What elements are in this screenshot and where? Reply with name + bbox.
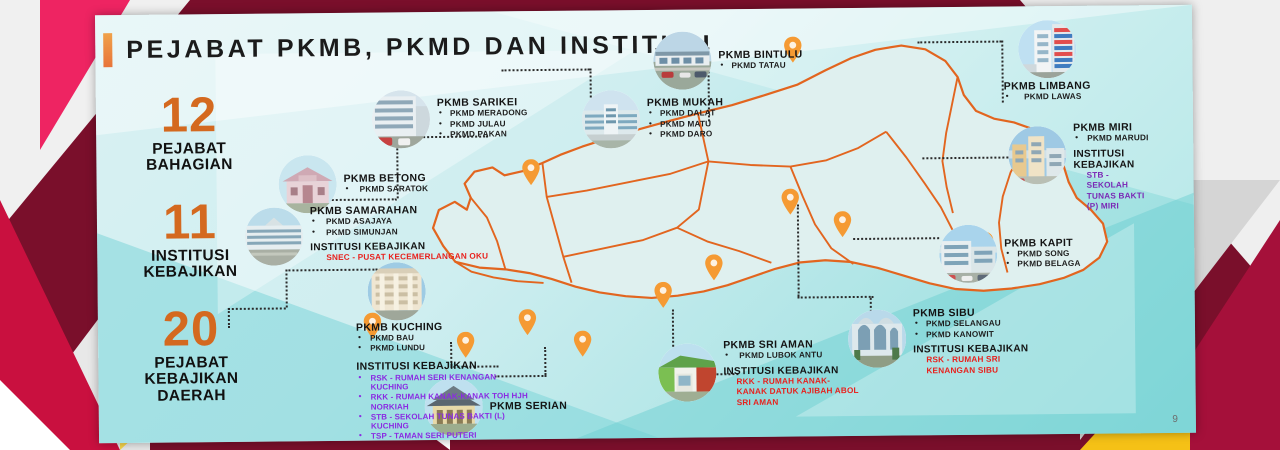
high-rise-building-photo <box>1018 20 1077 79</box>
map-pin[interactable] <box>781 189 800 215</box>
office-text: PKMB BETONG PKMD SARATOK <box>343 172 428 195</box>
institution-item: RSK - RUMAH SERI KENANGAN KUCHING <box>356 372 531 393</box>
office-sublist: PKMD SONG PKMD BELAGA <box>1004 248 1080 270</box>
sarikei-shoplot-photo <box>372 90 431 149</box>
leader-line <box>285 269 287 307</box>
airport-terminal-photo <box>653 31 712 90</box>
office-title: PKMB SARIKEI <box>437 96 528 109</box>
institution-item: STB - SEKOLAH TUNAS BAKTI (P) MIRI <box>1074 170 1149 213</box>
office-sublist: PKMD LUBOK ANTU <box>723 350 860 362</box>
stat-pejabat-kebajikan-daerah: 20 PEJABAT KEBAJIKAN DAERAH <box>106 306 277 406</box>
office-sublist: PKMD LAWAS <box>1004 92 1091 103</box>
stat-pejabat-bahagian: 12 PEJABAT BAHAGIAN <box>104 92 275 175</box>
office-text: PKMB BINTULU PKMD TATAU <box>718 48 802 71</box>
office-card-kuching[interactable]: PKMB KUCHING PKMD BAU PKMD LUNDU INSTITU… <box>356 320 532 443</box>
office-text: PKMB LIMBANG PKMD LAWAS <box>1004 80 1091 103</box>
office-title: PKMB MUKAH <box>647 96 724 109</box>
samarahan-office-photo <box>245 207 304 266</box>
map-pin[interactable] <box>521 159 540 185</box>
office-card-samarahan[interactable]: PKMB SAMARAHAN PKMD ASAJAYA PKMD SIMUNJA… <box>245 204 488 266</box>
office-card-miri[interactable]: PKMB MIRI PKMD MARUDI INSTITUSI KEBAJIKA… <box>1008 121 1149 213</box>
office-sublist: PKMD TATAU <box>718 60 802 71</box>
office-text: PKMB MUKAH PKMD DALAT PKMD MATU PKMD DAR… <box>647 96 724 140</box>
institution-heading: INSTITUSI KEBAJIKAN <box>356 359 531 373</box>
office-text: PKMB SIBU PKMD SELANGAU PKMD KANOWIT INS… <box>913 306 1029 376</box>
institution-item: STB - SEKOLAH TUNAS BAKTI (L) KUCHING <box>357 411 532 432</box>
mukah-complex-photo <box>582 90 641 149</box>
office-sublist: PKMD MARUDI <box>1073 133 1148 144</box>
office-sublist: PKMD ASAJAYA PKMD SIMUNJAN <box>310 216 488 239</box>
office-sublist: PKMD MERADONG PKMD JULAU PKMD PAKAN <box>437 108 528 140</box>
map-pin[interactable] <box>573 331 592 357</box>
institution-item: RKK - RUMAH KANAK-KANAK DATUK AJIBAH ABO… <box>723 375 860 408</box>
stat-label: PEJABAT BAHAGIAN <box>104 140 274 175</box>
office-title: PKMB KAPIT <box>1004 236 1080 249</box>
office-text: PKMB SARIKEI PKMD MERADONG PKMD JULAU PK… <box>437 96 528 140</box>
office-card-sriaman[interactable]: PKMB SRI AMAN PKMD LUBOK ANTU INSTITUSI … <box>658 338 861 409</box>
presentation-slide: PEJABAT PKMB, PKMD DAN INSTITUSI 12 PEJA… <box>95 5 1196 444</box>
institution-item: RKK - RUMAH KANAK-KANAK TOH HJH NORKIAH <box>357 391 532 412</box>
office-text: PKMB MIRI PKMD MARUDI INSTITUSI KEBAJIKA… <box>1073 121 1149 212</box>
office-card-limbang[interactable]: PKMB LIMBANG PKMD LAWAS <box>1003 20 1091 103</box>
miri-city-building-photo <box>1008 126 1067 185</box>
page-number: 9 <box>1172 414 1178 425</box>
office-card-bintulu[interactable]: PKMB BINTULU PKMD TATAU <box>653 30 803 89</box>
office-title: PKMB MIRI <box>1073 121 1148 134</box>
institution-list: RSK - RUMAH SERI KENANGAN KUCHING RKK - … <box>356 372 532 444</box>
office-sublist: PKMD BAU PKMD LUNDU <box>356 332 531 353</box>
title-accent-bar <box>103 33 112 67</box>
office-text: PKMB KAPIT PKMD SONG PKMD BELAGA <box>1004 236 1080 270</box>
leader-line <box>228 308 230 328</box>
office-sublist: PKMD DALAT PKMD MATU PKMD DARO <box>647 108 724 140</box>
leader-line <box>544 347 546 375</box>
office-title: PKMB LIMBANG <box>1004 80 1091 93</box>
map-pin[interactable] <box>704 254 723 280</box>
office-text: PKMB SRI AMAN PKMD LUBOK ANTU INSTITUSI … <box>723 338 861 408</box>
office-title: PKMB BETONG <box>343 172 428 185</box>
institution-item: RSK - RUMAH SRI KENANGAN SIBU <box>913 354 1022 376</box>
map-pin[interactable] <box>654 282 673 308</box>
office-title: PKMB BINTULU <box>718 48 802 61</box>
office-card-sibu[interactable]: PKMB SIBU PKMD SELANGAU PKMD KANOWIT INS… <box>848 306 1029 377</box>
institution-heading: INSTITUSI KEBAJIKAN <box>1073 148 1133 171</box>
stat-number: 12 <box>104 92 274 140</box>
stat-number: 20 <box>106 306 276 354</box>
kuching-building-photo <box>367 262 426 321</box>
office-card-mukah[interactable]: PKMB MUKAH PKMD DALAT PKMD MATU PKMD DAR… <box>582 89 724 148</box>
office-sublist: PKMD SELANGAU PKMD KANOWIT <box>913 318 1028 340</box>
sriaman-building-photo <box>658 343 717 402</box>
kapit-office-photo <box>939 225 998 284</box>
office-card-sarikei[interactable]: PKMB SARIKEI PKMD MERADONG PKMD JULAU PK… <box>372 89 528 148</box>
office-card-kapit[interactable]: PKMB KAPIT PKMD SONG PKMD BELAGA <box>939 224 1081 283</box>
office-text: PKMB SAMARAHAN PKMD ASAJAYA PKMD SIMUNJA… <box>310 204 488 264</box>
office-title: PKMB SIBU <box>913 306 1028 319</box>
institution-heading: INSTITUSI KEBAJIKAN <box>913 343 1028 355</box>
stat-label: PEJABAT KEBAJIKAN DAERAH <box>106 354 276 405</box>
office-sublist: PKMD SARATOK <box>344 184 429 195</box>
map-pin[interactable] <box>833 211 852 237</box>
